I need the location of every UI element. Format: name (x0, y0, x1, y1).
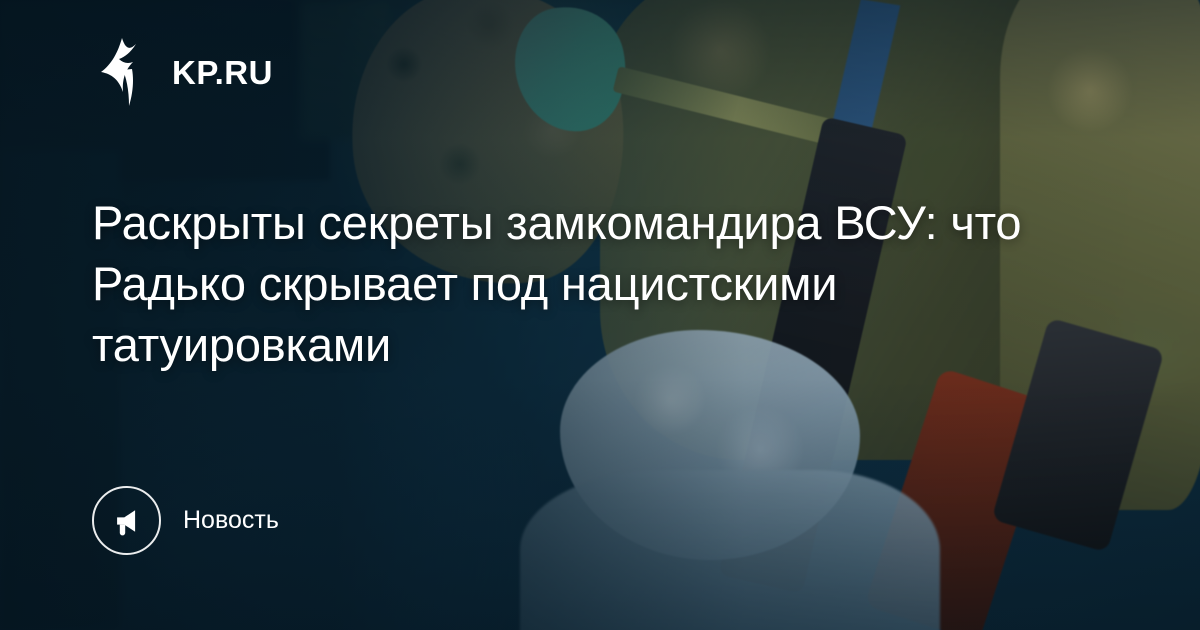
social-share-card: KP.RU Раскрыты секреты замкомандира ВСУ:… (0, 0, 1200, 630)
brand-name: KP.RU (172, 56, 273, 89)
page-title: Раскрыты секреты замкомандира ВСУ: что Р… (92, 192, 1052, 375)
card-content: KP.RU Раскрыты секреты замкомандира ВСУ:… (0, 0, 1200, 630)
megaphone-icon (92, 486, 161, 555)
brand-lockup[interactable]: KP.RU (92, 36, 273, 108)
kp-bird-logo-icon (92, 36, 154, 108)
status-badge[interactable]: Новость (92, 486, 279, 555)
status-badge-label: Новость (183, 508, 279, 533)
